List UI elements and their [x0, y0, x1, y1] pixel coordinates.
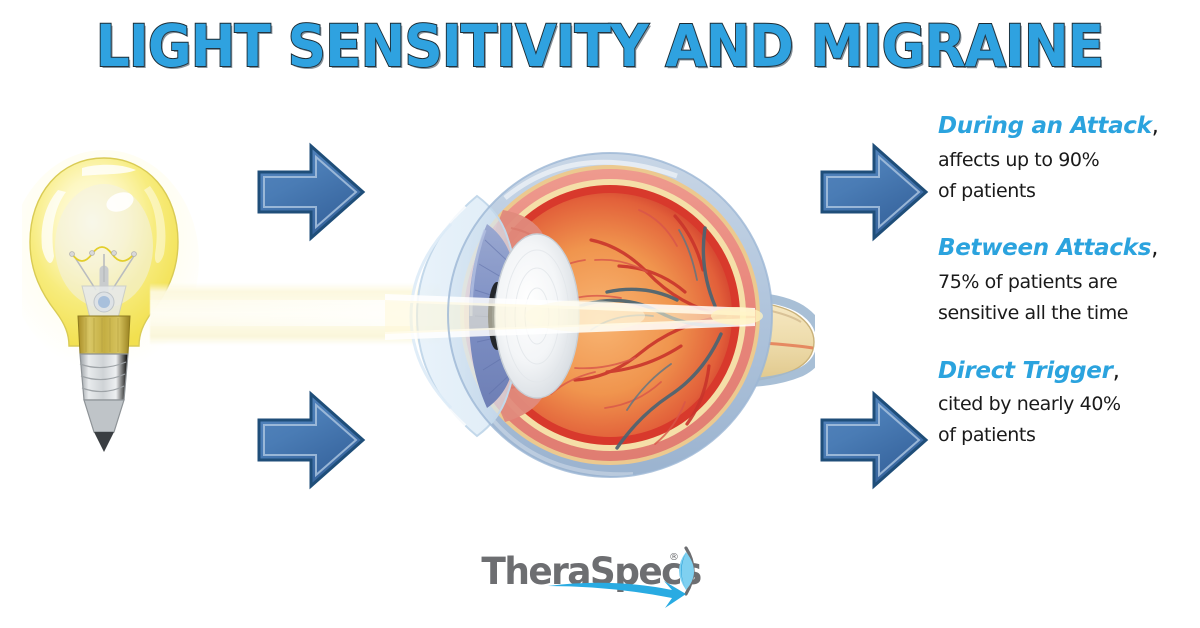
logo-eye-icon — [679, 548, 694, 594]
arrow-right-top — [818, 140, 930, 244]
fact-body-line: affects up to 90% — [938, 145, 1188, 176]
fact-headline: During an Attack, — [938, 112, 1188, 141]
fact-item: Between Attacks, 75% of patients are sen… — [938, 234, 1188, 328]
fact-body: affects up to 90% of patients — [938, 145, 1188, 207]
fact-body-line: of patients — [938, 176, 1188, 207]
fact-body-line: of patients — [938, 420, 1188, 451]
fact-body: cited by nearly 40% of patients — [938, 389, 1188, 451]
arrow-left-bottom — [255, 388, 367, 492]
arrow-right-bottom — [818, 388, 930, 492]
page-title: LIGHT SENSITIVITY AND MIGRAINE — [96, 12, 1103, 80]
fact-headline: Between Attacks, — [938, 234, 1188, 263]
arrow-left-top — [255, 140, 367, 244]
fact-headline: Direct Trigger, — [938, 357, 1188, 386]
fact-body: 75% of patients are sensitive all the ti… — [938, 267, 1188, 329]
logo-swoosh-arrow — [548, 581, 686, 608]
theraspecs-logo[interactable]: TheraSpecs ® — [478, 546, 723, 608]
facts-list: During an Attack, affects up to 90% of p… — [938, 112, 1188, 479]
eye-cross-section-illustration — [385, 120, 815, 510]
fact-item: During an Attack, affects up to 90% of p… — [938, 112, 1188, 206]
fact-body-line: sensitive all the time — [938, 298, 1188, 329]
fact-item: Direct Trigger, cited by nearly 40% of p… — [938, 357, 1188, 451]
title-bar: LIGHT SENSITIVITY AND MIGRAINE — [0, 0, 1200, 92]
fact-body-line: cited by nearly 40% — [938, 389, 1188, 420]
fact-body-line: 75% of patients are — [938, 267, 1188, 298]
